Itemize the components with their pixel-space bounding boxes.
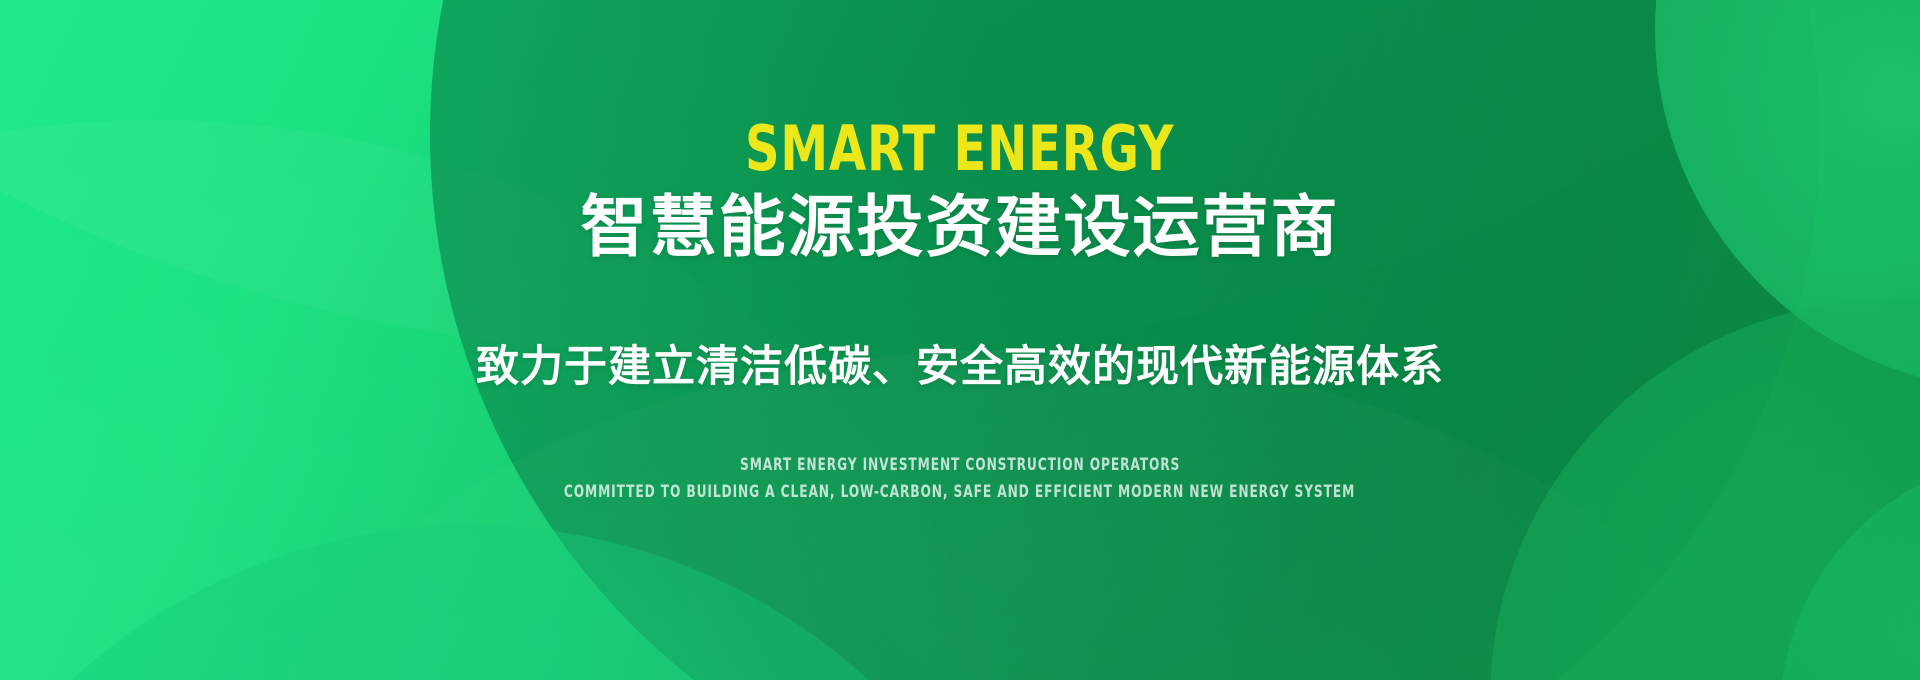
banner-headline-chinese: 智慧能源投资建设运营商 <box>581 192 1340 264</box>
banner-subheadline-chinese: 致力于建立清洁低碳、安全高效的现代新能源体系 <box>476 343 1444 391</box>
banner-caption-english-line-2: COMMITTED TO BUILDING A CLEAN, LOW-CARBO… <box>564 480 1355 505</box>
banner-caption-english-line-1: SMART ENERGY INVESTMENT CONSTRUCTION OPE… <box>740 453 1180 478</box>
banner-content: SMART ENERGY 智慧能源投资建设运营商 致力于建立清洁低碳、安全高效的… <box>0 0 1920 680</box>
banner-eyebrow-english: SMART ENERGY <box>745 118 1174 180</box>
hero-banner: SMART ENERGY 智慧能源投资建设运营商 致力于建立清洁低碳、安全高效的… <box>0 0 1920 680</box>
